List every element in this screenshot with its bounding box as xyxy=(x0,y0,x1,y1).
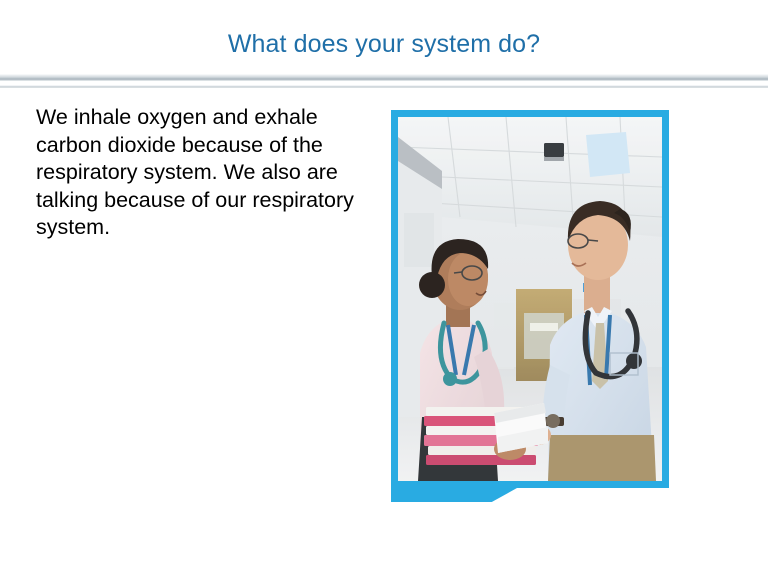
body-paragraph: We inhale oxygen and exhale carbon dioxi… xyxy=(36,104,381,242)
hospital-photo-illustration xyxy=(398,117,662,481)
divider-rule-primary xyxy=(0,74,768,81)
picture-accent-tab xyxy=(391,488,517,502)
slide: What does your system do? We inhale oxyg… xyxy=(0,0,768,561)
title-area: What does your system do? xyxy=(0,22,768,66)
picture-block xyxy=(391,110,669,488)
picture-frame xyxy=(391,110,669,488)
divider-rule-secondary xyxy=(0,85,768,88)
hospital-photo xyxy=(398,117,662,481)
title-divider xyxy=(0,72,768,90)
page-title: What does your system do? xyxy=(228,30,540,59)
